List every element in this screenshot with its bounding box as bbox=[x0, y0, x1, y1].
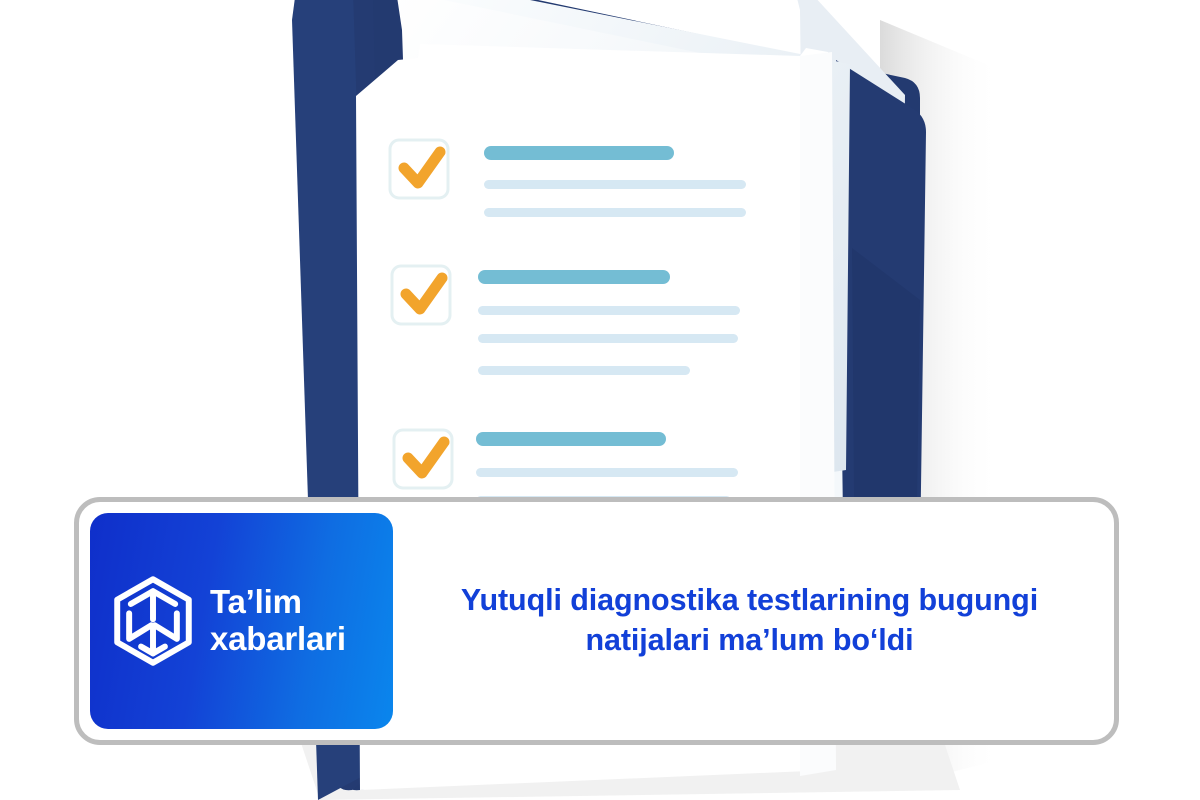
text-line-soft bbox=[476, 468, 738, 477]
text-line-soft bbox=[484, 208, 746, 217]
text-line-strong bbox=[476, 432, 666, 446]
cube-box-icon bbox=[110, 575, 196, 667]
news-headline[interactable]: Yutuqli diagnostika testlarining bugungi… bbox=[445, 581, 1055, 660]
text-line-soft bbox=[478, 334, 738, 343]
text-line-soft bbox=[478, 306, 740, 315]
headline-wrap: Yutuqli diagnostika testlarining bugungi… bbox=[393, 502, 1114, 740]
brand-block[interactable]: Ta’lim xabarlari bbox=[90, 513, 393, 729]
brand-title-line2: xabarlari bbox=[210, 621, 346, 658]
brand-title: Ta’lim xabarlari bbox=[210, 584, 346, 658]
text-line-soft bbox=[484, 180, 746, 189]
news-card[interactable]: Ta’lim xabarlari Yutuqli diagnostika tes… bbox=[74, 497, 1119, 745]
text-line-soft bbox=[478, 366, 690, 375]
text-line-strong bbox=[484, 146, 674, 160]
page-root: Ta’lim xabarlari Yutuqli diagnostika tes… bbox=[0, 0, 1200, 800]
text-line-strong bbox=[478, 270, 670, 284]
brand-title-line1: Ta’lim bbox=[210, 583, 302, 620]
